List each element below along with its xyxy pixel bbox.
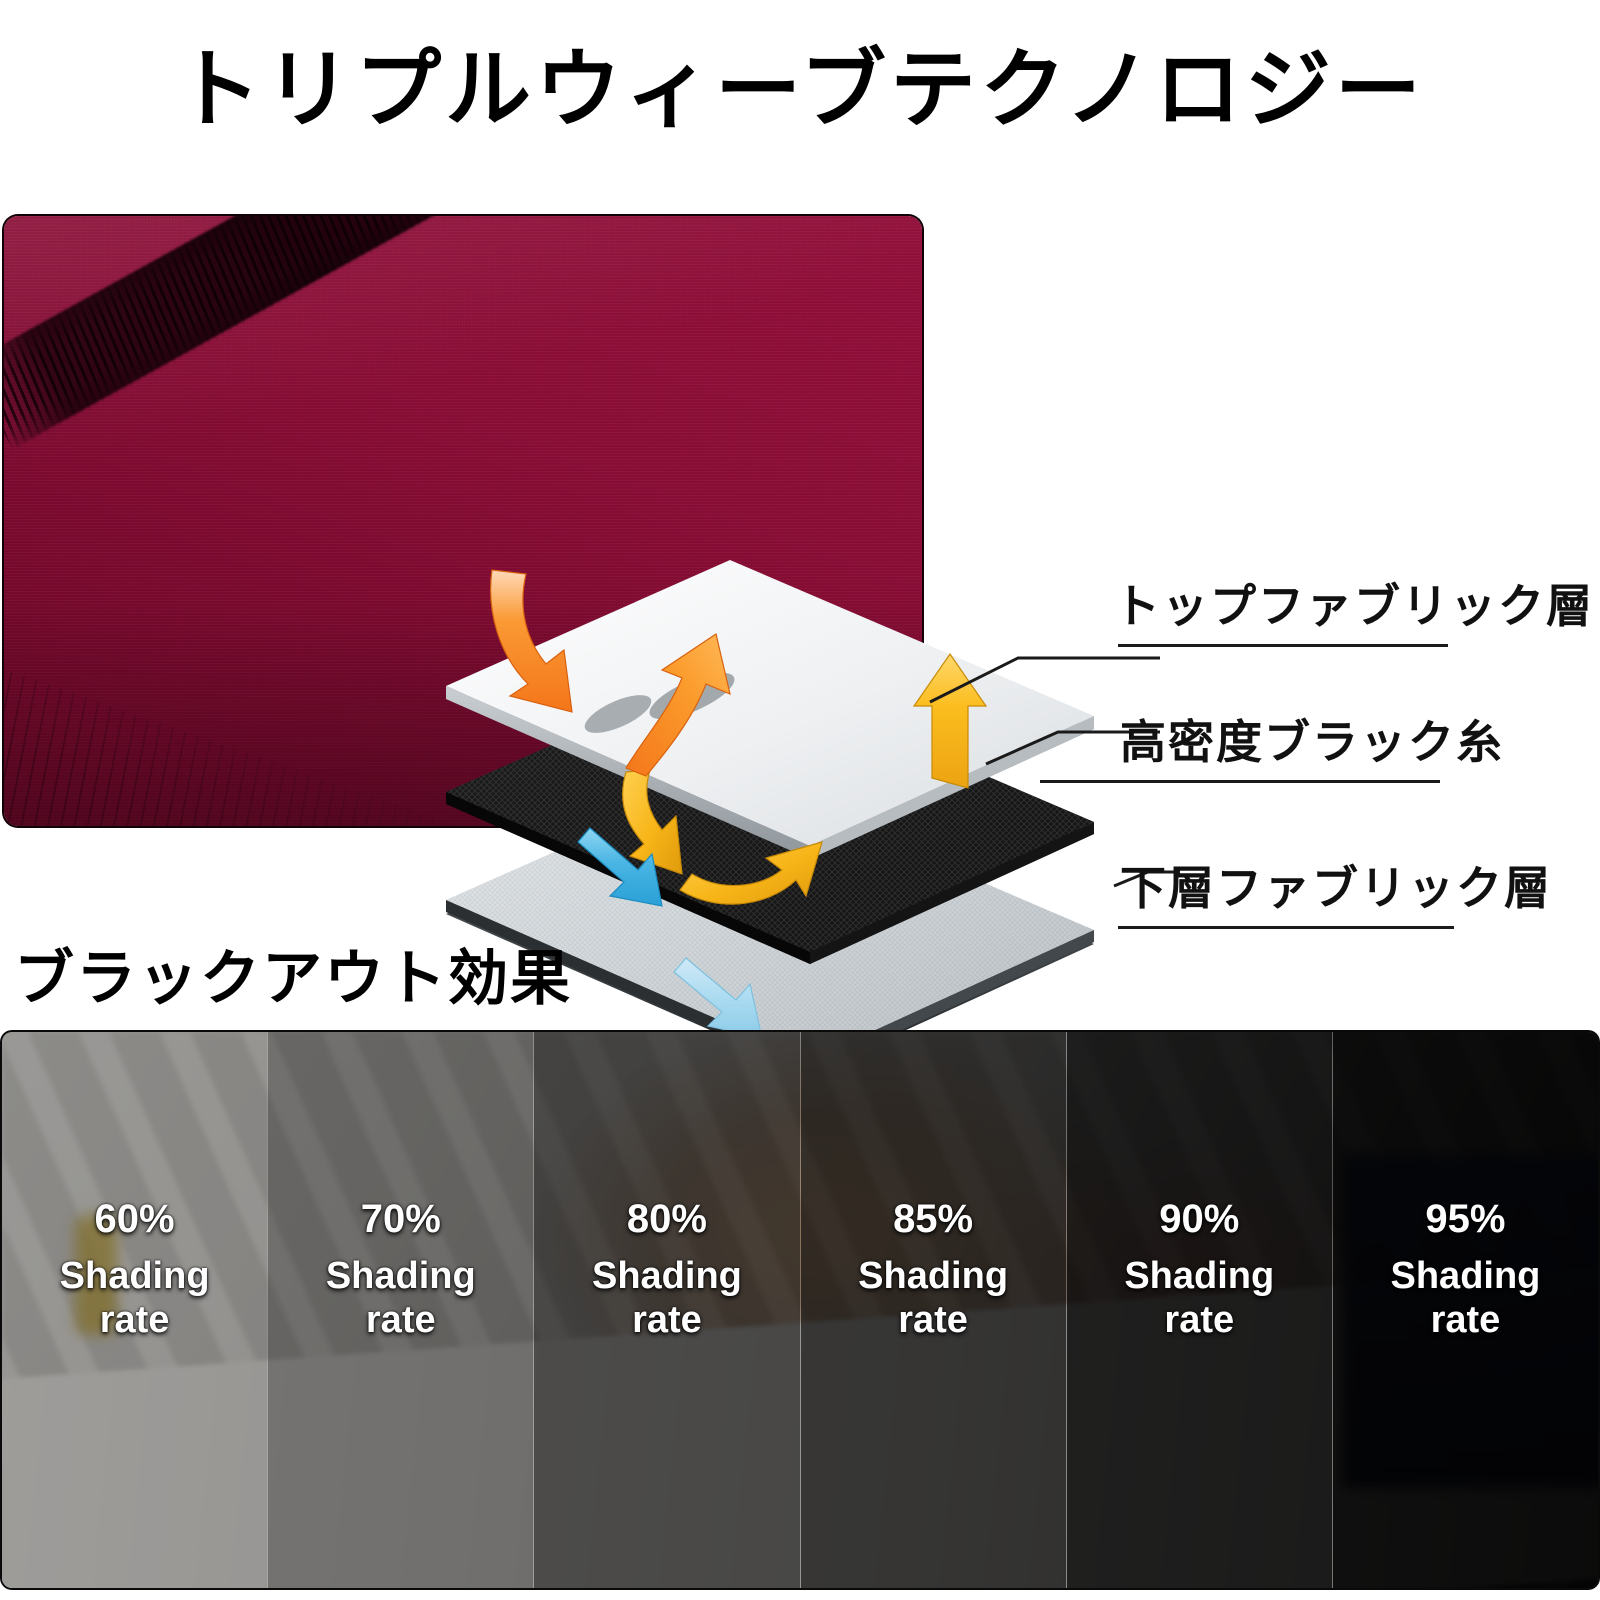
- page-title: トリプルウィーブテクノロジー: [0, 44, 1600, 137]
- shading-rate-label: Shading rate: [326, 1254, 476, 1342]
- shading-percent: 85%: [858, 1198, 1008, 1240]
- shading-panel: 95% Shading rate: [1333, 1032, 1598, 1588]
- shading-panel-text: 90% Shading rate: [1124, 1198, 1274, 1342]
- shading-rate-label: Shading rate: [60, 1254, 210, 1342]
- shading-veil: [534, 1032, 799, 1588]
- shading-panel: 70% Shading rate: [268, 1032, 534, 1588]
- shading-veil: [2, 1032, 267, 1588]
- shading-panel-text: 80% Shading rate: [592, 1198, 742, 1342]
- shading-rate-label: Shading rate: [1124, 1254, 1274, 1342]
- shading-rate-label: Shading rate: [592, 1254, 742, 1342]
- shading-percent: 60%: [60, 1198, 210, 1240]
- callout-bottom-underline: [1118, 926, 1454, 929]
- shading-panel-text: 95% Shading rate: [1391, 1198, 1541, 1342]
- shading-rate-label: Shading rate: [1391, 1254, 1541, 1342]
- shading-panel-text: 60% Shading rate: [60, 1198, 210, 1342]
- shading-panel-text: 70% Shading rate: [326, 1198, 476, 1342]
- shading-percent: 90%: [1124, 1198, 1274, 1240]
- shading-panel: 80% Shading rate: [534, 1032, 800, 1588]
- shading-veil: [801, 1032, 1066, 1588]
- shading-panel: 85% Shading rate: [801, 1032, 1067, 1588]
- shading-panel: 90% Shading rate: [1067, 1032, 1333, 1588]
- callout-bottom-fabric-layer: 下層ファブリック層: [1120, 852, 1552, 918]
- shading-percent: 70%: [326, 1198, 476, 1240]
- shading-percent: 95%: [1391, 1198, 1541, 1240]
- callout-top-fabric-layer: トップファブリック層: [1114, 570, 1594, 636]
- shading-panel: 60% Shading rate: [2, 1032, 268, 1588]
- shading-rate-label: Shading rate: [858, 1254, 1008, 1342]
- callout-black-yarn-layer: 高密度ブラック糸: [1120, 706, 1504, 772]
- callout-top-underline: [1118, 644, 1448, 647]
- shading-percent: 80%: [592, 1198, 742, 1240]
- shading-veil: [1067, 1032, 1332, 1588]
- callout-middle-underline: [1040, 780, 1440, 783]
- shading-rate-strip: 60% Shading rate 70% Shading rate 80% Sh…: [2, 1032, 1598, 1588]
- shading-panel-text: 85% Shading rate: [858, 1198, 1008, 1342]
- product-infographic: トリプルウィーブテクノロジー: [0, 0, 1600, 1600]
- shading-veil: [268, 1032, 533, 1588]
- shading-veil: [1333, 1032, 1598, 1588]
- blackout-effect-heading: ブラックアウト効果: [14, 930, 572, 1017]
